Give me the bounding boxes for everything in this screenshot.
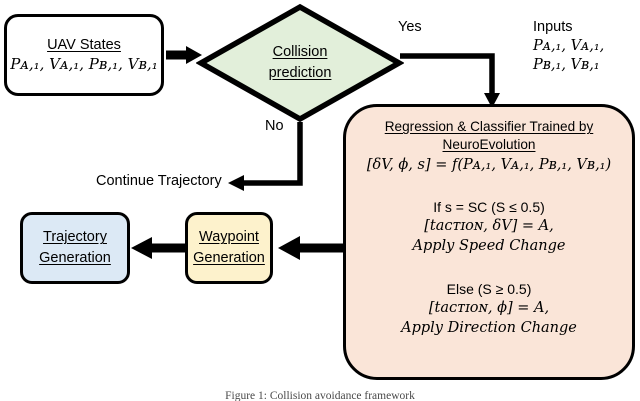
arrow-regression-to-waypoint <box>278 236 343 260</box>
inputs-title: Inputs <box>533 18 604 37</box>
regression-title-line-2: NeuroEvolution <box>443 136 536 154</box>
inputs-line-2: Pʙ,₁, Vʙ,₁ <box>533 56 604 75</box>
regression-title-line-1: Regression & Classifier Trained by <box>385 118 594 136</box>
arrow-yes-to-regression <box>400 56 500 108</box>
else-condition: Else (S ≥ 0.5) <box>447 280 532 299</box>
uav-states-title: UAV States <box>47 37 121 54</box>
waypoint-line-1: Waypoint <box>199 227 259 248</box>
trajectory-generation-node: Trajectory Generation <box>20 212 130 284</box>
else-action: Apply Direction Change <box>401 319 577 339</box>
inputs-line-1: Pᴀ,₁, Vᴀ,₁, <box>533 37 604 56</box>
diagram-canvas: UAV States Pᴀ,₁, Vᴀ,₁, Pʙ,₁, Vʙ,₁ Collis… <box>0 0 640 401</box>
yes-branch-label: Yes <box>398 19 422 35</box>
arrow-waypoint-to-trajectory <box>131 237 185 259</box>
if-assignment: [tаᴄᴛɪᴏɴ, δV] = A, <box>424 217 554 237</box>
waypoint-generation-node: Waypoint Generation <box>185 212 273 284</box>
else-assignment: [tаᴄᴛɪᴏɴ, ϕ] = A, <box>429 299 549 319</box>
uav-states-node: UAV States Pᴀ,₁, Vᴀ,₁, Pʙ,₁, Vʙ,₁ <box>4 14 164 96</box>
waypoint-line-2: Generation <box>193 248 265 269</box>
regression-equation: [δV, ϕ, s] = f(Pᴀ,₁, Vᴀ,₁, Pʙ,₁, Vʙ,₁) <box>367 157 611 174</box>
regression-classifier-node: Regression & Classifier Trained by Neuro… <box>343 104 635 380</box>
inputs-annotation: Inputs Pᴀ,₁, Vᴀ,₁, Pʙ,₁, Vʙ,₁ <box>533 18 604 75</box>
if-condition: If s = SC (S ≤ 0.5) <box>433 198 545 217</box>
trajectory-line-1: Trajectory <box>43 227 107 248</box>
continue-trajectory-label: Continue Trajectory <box>96 173 222 189</box>
uav-states-variables: Pᴀ,₁, Vᴀ,₁, Pʙ,₁, Vʙ,₁ <box>10 56 157 74</box>
no-branch-label: No <box>265 118 284 134</box>
figure-caption: Figure 1: Collision avoidance framework <box>0 390 640 401</box>
trajectory-line-2: Generation <box>39 248 111 269</box>
arrow-no-to-continue <box>228 122 300 191</box>
if-action: Apply Speed Change <box>412 237 565 257</box>
